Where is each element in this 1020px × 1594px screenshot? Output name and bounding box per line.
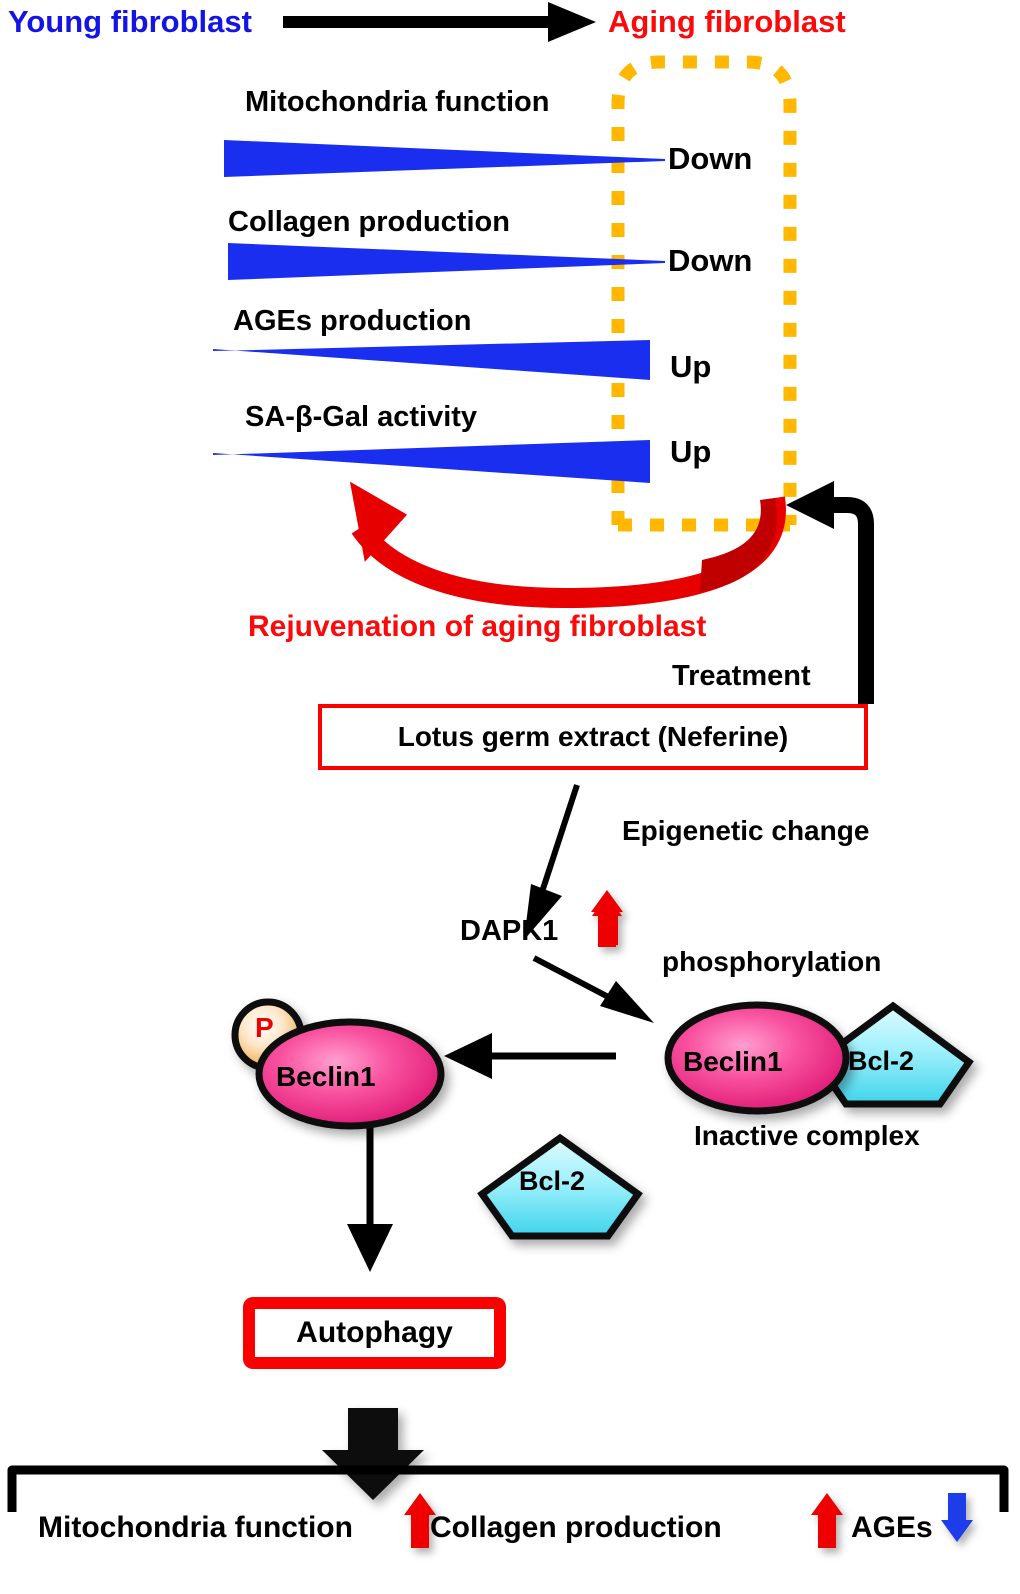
treatment-box-label: Lotus germ extract (Neferine) <box>322 708 864 766</box>
young-fibroblast-label: Young fibroblast <box>8 6 252 37</box>
trend-direction-collagen-production: Down <box>668 245 752 276</box>
bcl2-free-label: Bcl-2 <box>519 1166 585 1197</box>
autophagy-box: Autophagy <box>243 1297 506 1369</box>
pathway-diagram: Young fibroblast Aging fibroblast Mitoch… <box>0 0 1020 1594</box>
wedge-mitochondria-function <box>224 140 665 177</box>
phospho-marker-circle <box>235 1002 301 1068</box>
diagram-vector-layer <box>0 0 1020 1594</box>
epigenetic-change-label: Epigenetic change <box>622 817 869 845</box>
inactive-complex-label: Inactive complex <box>694 1122 920 1150</box>
trend-direction-mitochondria-function: Down <box>668 143 752 174</box>
bcl2-complex-label: Bcl-2 <box>848 1046 914 1077</box>
bcl2-complex-pentagon <box>817 1006 969 1104</box>
beclin1-phospho-label: Beclin1 <box>276 1061 376 1093</box>
autophagy-to-outcomes-arrow <box>322 1408 424 1500</box>
wedge-ages-production <box>213 340 650 380</box>
phosphorylation-label: phosphorylation <box>662 948 881 976</box>
treatment-box: Lotus germ extract (Neferine) <box>318 704 868 770</box>
beclin1-phospho-ellipse <box>259 1022 441 1126</box>
phospho-marker-label: P <box>255 1012 274 1044</box>
beclin1-complex-ellipse <box>668 1005 846 1111</box>
outcome-label-mitochondria-function: Mitochondria function <box>38 1513 353 1543</box>
beclin1-complex-label: Beclin1 <box>683 1046 783 1078</box>
complex-to-beclin-arrow <box>444 1033 616 1079</box>
trend-label-sa-bgal-activity: SA-β-Gal activity <box>245 403 477 432</box>
outcome-arrow-ages-down <box>941 1493 973 1542</box>
rejuvenation-arrow <box>319 482 777 598</box>
bcl2-free-pentagon <box>482 1138 638 1236</box>
outcome-label-ages: AGEs <box>851 1513 933 1543</box>
autophagy-label: Autophagy <box>255 1309 494 1357</box>
outcome-arrow-collagen-up <box>811 1493 843 1548</box>
trend-direction-ages-production: Up <box>670 351 711 382</box>
trend-direction-sa-bgal-activity: Up <box>670 436 711 467</box>
wedge-collagen-production <box>228 243 665 280</box>
beclin-to-autophagy-arrow <box>347 1120 393 1272</box>
aging-fibroblast-label: Aging fibroblast <box>608 6 846 37</box>
dapk1-to-complex-arrow <box>534 958 654 1023</box>
dapk1-up-arrow-icon <box>591 890 623 947</box>
dapk1-label: DAPK1 <box>460 917 558 946</box>
young-to-aging-arrow <box>283 2 596 42</box>
trend-label-ages-production: AGEs production <box>233 307 471 336</box>
trend-label-collagen-production: Collagen production <box>228 208 510 237</box>
treatment-label: Treatment <box>672 662 811 691</box>
outcome-label-collagen-production: Collagen production <box>430 1513 722 1543</box>
trend-label-mitochondria-function: Mitochondria function <box>245 88 549 117</box>
outcomes-bracket <box>12 1470 1004 1512</box>
wedge-sa-bgal-activity <box>213 440 650 483</box>
rejuvenation-label: Rejuvenation of aging fibroblast <box>248 612 706 642</box>
